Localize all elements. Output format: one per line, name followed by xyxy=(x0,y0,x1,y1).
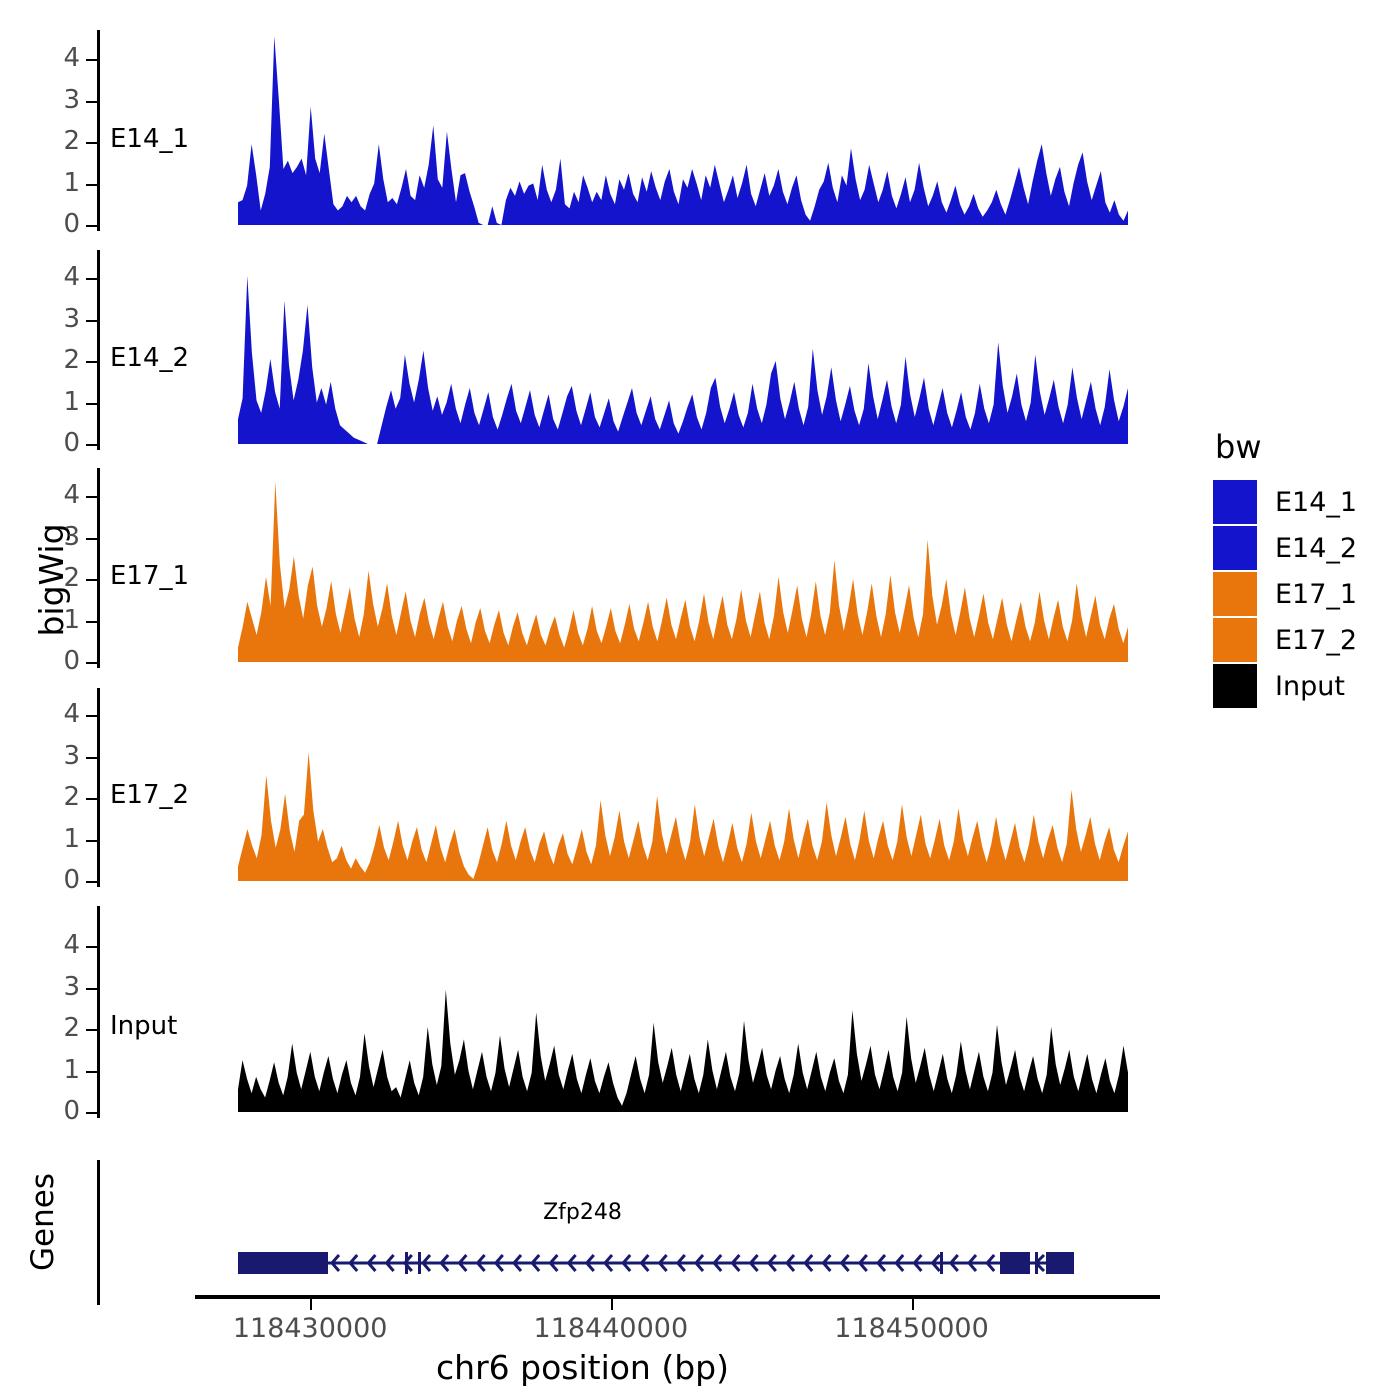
legend-item-e14_2[interactable]: E14_2 xyxy=(1213,526,1393,570)
genes-strip-label: Genes xyxy=(26,1152,60,1292)
gene-intron-line xyxy=(238,1262,1073,1265)
gene-model-track[interactable] xyxy=(0,1150,1165,1310)
legend-item-e17_1[interactable]: E17_1 xyxy=(1213,572,1393,616)
x-axis-title: chr6 position (bp) xyxy=(0,1348,1165,1387)
legend-item-input[interactable]: Input xyxy=(1213,664,1393,708)
legend-label: Input xyxy=(1275,671,1345,702)
x-tick xyxy=(912,1299,914,1310)
legend-swatch-icon xyxy=(1213,618,1257,662)
gene-splice-tick xyxy=(940,1252,943,1274)
track-panel-e17_2: 01234E17_2 xyxy=(0,688,1165,911)
legend-items: E14_1E14_2E17_1E17_2Input xyxy=(1213,480,1393,708)
x-tick-label: 118440000 xyxy=(511,1313,711,1344)
coverage-area-e14_2 xyxy=(0,250,1165,474)
x-tick xyxy=(310,1299,312,1310)
coverage-area-input xyxy=(0,906,1165,1142)
gene-exon-block xyxy=(1000,1252,1030,1274)
legend-title: bw xyxy=(1215,428,1393,466)
legend-swatch-icon xyxy=(1213,480,1257,524)
gene-exon-block xyxy=(1046,1252,1074,1274)
x-tick xyxy=(611,1299,613,1310)
genes-axis-line xyxy=(97,1160,100,1305)
track-panel-e14_2: 01234E14_2 xyxy=(0,250,1165,474)
x-tick-label: 118430000 xyxy=(210,1313,410,1344)
gene-exon-block xyxy=(238,1252,328,1274)
x-tick-label: 118450000 xyxy=(812,1313,1012,1344)
x-axis-line xyxy=(195,1295,1160,1299)
gene-splice-tick xyxy=(418,1252,421,1274)
legend: bw E14_1E14_2E17_1E17_2Input xyxy=(1213,428,1393,710)
legend-item-e17_2[interactable]: E17_2 xyxy=(1213,618,1393,662)
coverage-area-e14_1 xyxy=(0,30,1165,255)
coverage-area-e17_1 xyxy=(0,468,1165,692)
track-panel-e17_1: 01234E17_1 xyxy=(0,468,1165,692)
legend-label: E17_2 xyxy=(1275,625,1357,656)
legend-swatch-icon xyxy=(1213,572,1257,616)
legend-item-e14_1[interactable]: E14_1 xyxy=(1213,480,1393,524)
legend-label: E17_1 xyxy=(1275,579,1357,610)
genes-panel xyxy=(0,1150,1165,1310)
track-panel-input: 01234Input xyxy=(0,906,1165,1142)
coverage-area-e17_2 xyxy=(0,688,1165,911)
legend-label: E14_2 xyxy=(1275,533,1357,564)
legend-swatch-icon xyxy=(1213,526,1257,570)
legend-label: E14_1 xyxy=(1275,487,1357,518)
legend-swatch-icon xyxy=(1213,664,1257,708)
genome-browser-figure: bigWig 01234E14_101234E14_201234E17_1012… xyxy=(0,0,1400,1400)
track-panel-e14_1: 01234E14_1 xyxy=(0,30,1165,255)
